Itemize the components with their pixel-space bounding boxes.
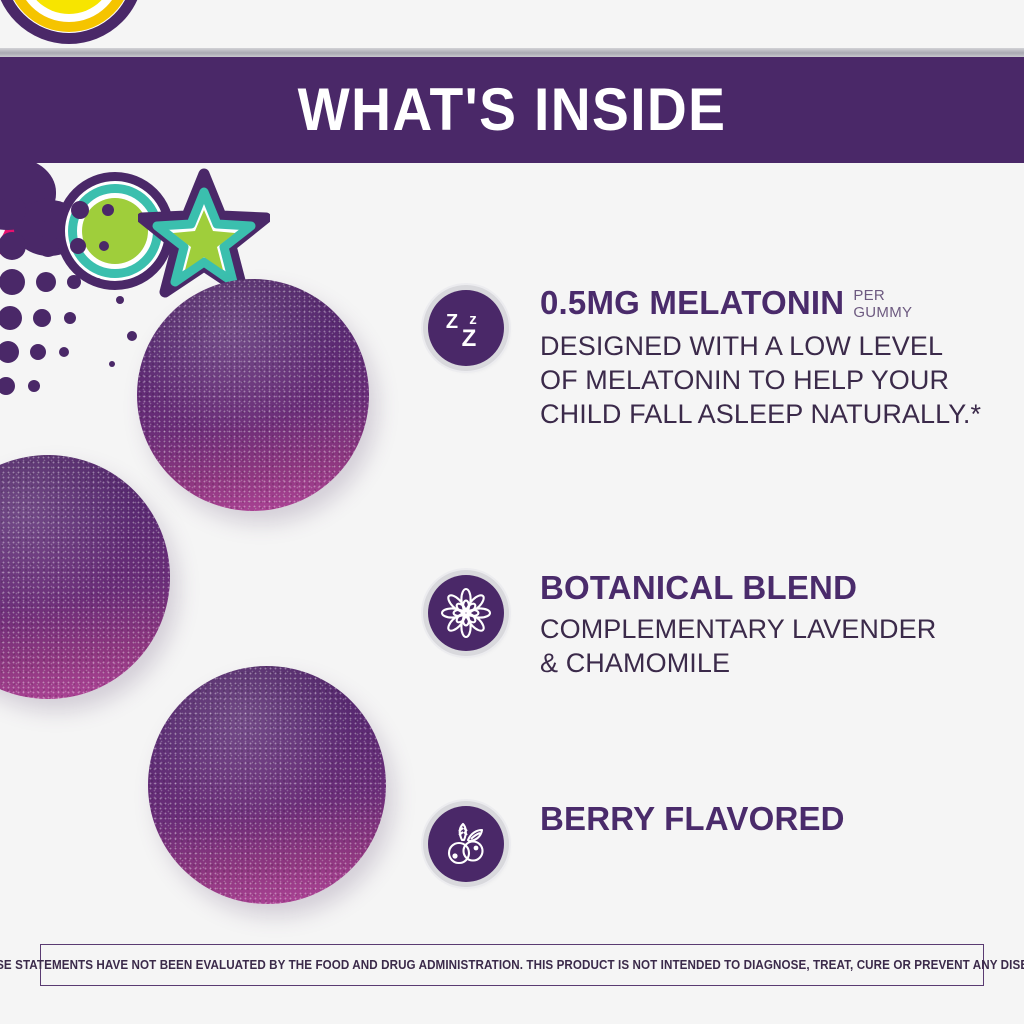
berry-icon <box>428 806 504 882</box>
gummy-ball <box>137 279 369 511</box>
feature-body-line: OF MELATONIN TO HELP YOUR <box>540 365 949 395</box>
pink-ring-shape <box>0 172 18 264</box>
feature-body: DESIGNED WITH A LOW LEVEL OF MELATONIN T… <box>540 329 981 431</box>
feature-body-line: COMPLEMENTARY LAVENDER <box>540 614 936 644</box>
feature-item-melatonin: Z z Z 0.5MG MELATONIN PER GUMMY DESIGNED… <box>428 286 994 431</box>
feature-heading: BOTANICAL BLEND <box>540 571 936 605</box>
svg-text:Z: Z <box>462 325 477 352</box>
yellow-sun-mid-shape <box>6 0 132 32</box>
feature-text-block: BOTANICAL BLEND COMPLEMENTARY LAVENDER &… <box>540 571 936 680</box>
flower-botanical-icon <box>428 575 504 651</box>
feature-item-botanical: BOTANICAL BLEND COMPLEMENTARY LAVENDER &… <box>428 571 994 680</box>
per-gummy-line-2: GUMMY <box>853 305 912 322</box>
yellow-sun-inner-white-shape <box>16 0 122 22</box>
concentric-circle-teal-shape <box>68 184 162 278</box>
feature-body-line: CHILD FALL ASLEEP NATURALLY.* <box>540 399 981 429</box>
purple-leaf-outline-shape <box>132 0 259 2</box>
page-title: WHAT'S INSIDE <box>41 55 983 163</box>
banner-sheen-strip <box>0 48 1024 57</box>
disclaimer-text: *THESE STATEMENTS HAVE NOT BEEN EVALUATE… <box>0 958 1024 972</box>
disclaimer-box: *THESE STATEMENTS HAVE NOT BEEN EVALUATE… <box>40 944 984 986</box>
concentric-circle-outer-shape <box>56 172 174 290</box>
concentric-circle-green-core-shape <box>82 198 148 264</box>
feature-item-berry: BERRY FLAVORED <box>428 802 994 882</box>
product-infographic: WHAT'S INSIDE Z z Z 0.5MG MELATONIN PER … <box>0 0 1024 1024</box>
gummy-ball <box>148 666 386 904</box>
yellow-sun-core-shape <box>24 0 114 14</box>
gummy-ball <box>0 455 170 699</box>
header-banner: WHAT'S INSIDE <box>0 55 1024 163</box>
feature-text-block: BERRY FLAVORED <box>540 802 845 836</box>
purple-blob-secondary-shape <box>14 200 84 256</box>
yellow-sun-ring-shape <box>0 0 144 44</box>
feature-body-line: & CHAMOMILE <box>540 648 730 678</box>
feature-heading: 0.5MG MELATONIN <box>540 286 844 320</box>
feature-body-line: DESIGNED WITH A LOW LEVEL <box>540 331 943 361</box>
per-gummy-line-1: PER <box>853 288 912 305</box>
svg-text:Z: Z <box>446 311 458 333</box>
feature-text-block: 0.5MG MELATONIN PER GUMMY DESIGNED WITH … <box>540 286 981 431</box>
zzz-sleep-icon: Z z Z <box>428 290 504 366</box>
green-swoosh-shape <box>164 0 315 12</box>
feature-heading-row: 0.5MG MELATONIN PER GUMMY <box>540 286 981 322</box>
feature-body: COMPLEMENTARY LAVENDER & CHAMOMILE <box>540 612 936 680</box>
feature-heading: BERRY FLAVORED <box>540 802 845 836</box>
per-gummy-superscript: PER GUMMY <box>853 288 912 322</box>
feature-list: Z z Z 0.5MG MELATONIN PER GUMMY DESIGNED… <box>428 286 994 882</box>
purple-blob-shape <box>0 156 56 230</box>
